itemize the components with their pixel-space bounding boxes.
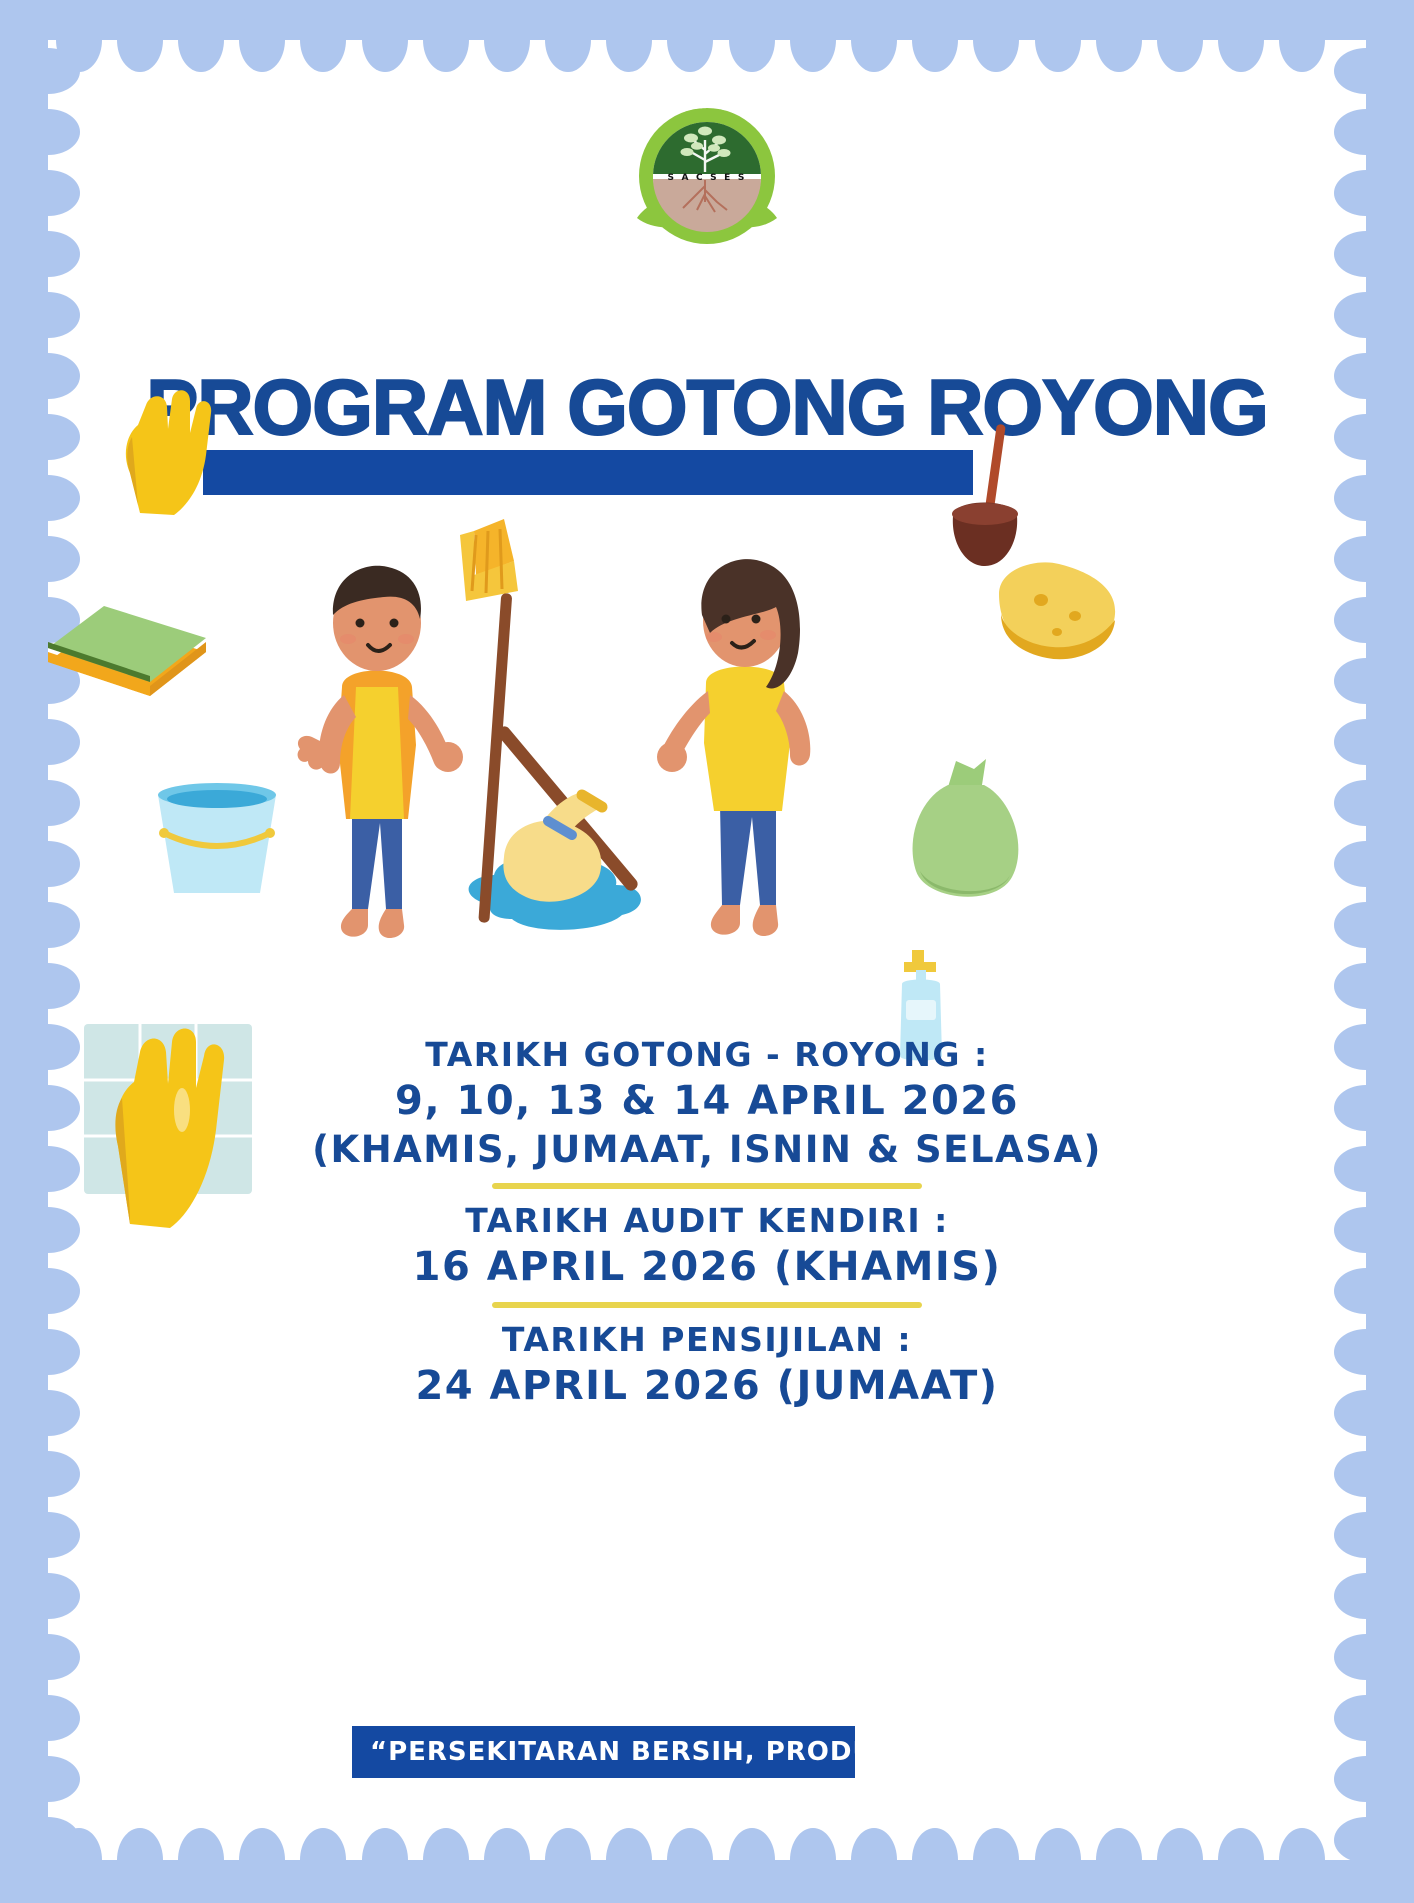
divider-rule-2 [492, 1302, 922, 1308]
audit-label: TARIKH AUDIT KENDIRI : [0, 1201, 1414, 1240]
bucket-icon [148, 775, 288, 900]
gotong-royong-date: 9, 10, 13 & 14 APRIL 2026 [0, 1078, 1414, 1124]
slogan-text: “PERSEKITARAN BERSIH, PRODUKTIVITI MENIN… [352, 1737, 855, 1767]
certification-date: 24 APRIL 2026 (JUMAAT) [0, 1363, 1414, 1409]
cleaning-illustration [290, 505, 870, 995]
certification-label: TARIKH PENSIJILAN : [0, 1320, 1414, 1359]
trash-bag-icon [900, 755, 1030, 915]
sponge-icon [42, 600, 212, 710]
dates-block: TARIKH GOTONG - ROYONG : 9, 10, 13 & 14 … [0, 1035, 1414, 1413]
gotong-royong-days: (KHAMIS, JUMAAT, ISNIN & SELASA) [0, 1128, 1414, 1171]
sponge-icon [985, 552, 1125, 672]
slogan-banner: “PERSEKITARAN BERSIH, PRODUKTIVITI MENIN… [352, 1726, 855, 1778]
rubber-glove-icon [110, 385, 220, 520]
blue-divider-bar [203, 450, 973, 495]
divider-rule-1 [492, 1183, 922, 1189]
logo-center-text: S A C S E S [667, 173, 746, 183]
poster-canvas: S A C S E S STANDARD SARAWAK CIVIL SERVI… [0, 0, 1414, 1903]
gotong-royong-label: TARIKH GOTONG - ROYONG : [0, 1035, 1414, 1074]
sacses-logo: S A C S E S STANDARD SARAWAK CIVIL SERVI… [597, 98, 817, 248]
audit-date: 16 APRIL 2026 (KHAMIS) [0, 1244, 1414, 1290]
